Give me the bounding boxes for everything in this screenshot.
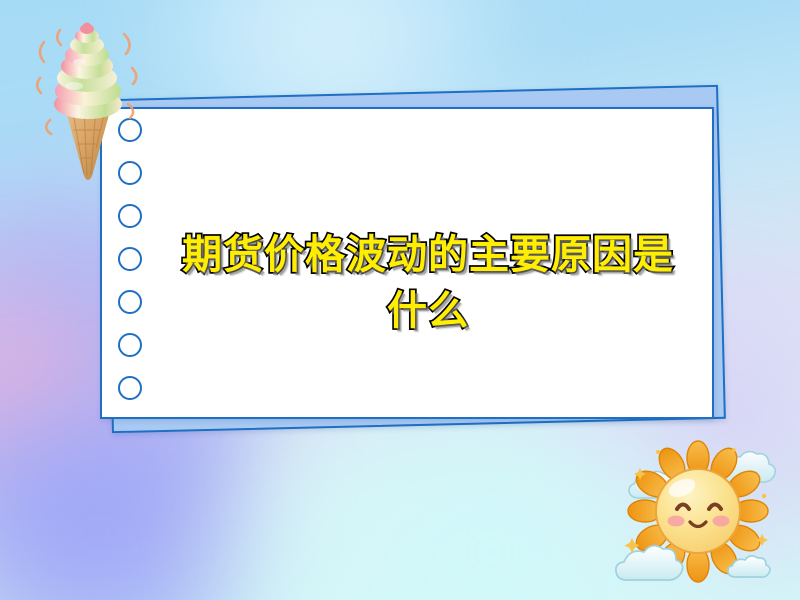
ice-cream-cone-icon <box>24 8 154 188</box>
ring-hole-icon <box>118 376 142 400</box>
ring-hole-icon <box>118 333 142 357</box>
ring-hole-icon <box>118 290 142 314</box>
smiling-sun-icon <box>614 438 782 588</box>
title-line-2: 什么 <box>158 283 698 339</box>
slide-canvas: 期货价格波动的主要原因是 什么 <box>0 0 800 600</box>
ring-hole-icon <box>118 247 142 271</box>
ring-hole-icon <box>118 204 142 228</box>
content-card[interactable]: 期货价格波动的主要原因是 什么 <box>100 107 714 419</box>
slide-title: 期货价格波动的主要原因是 什么 <box>158 227 698 339</box>
title-line-1: 期货价格波动的主要原因是 <box>158 227 698 283</box>
